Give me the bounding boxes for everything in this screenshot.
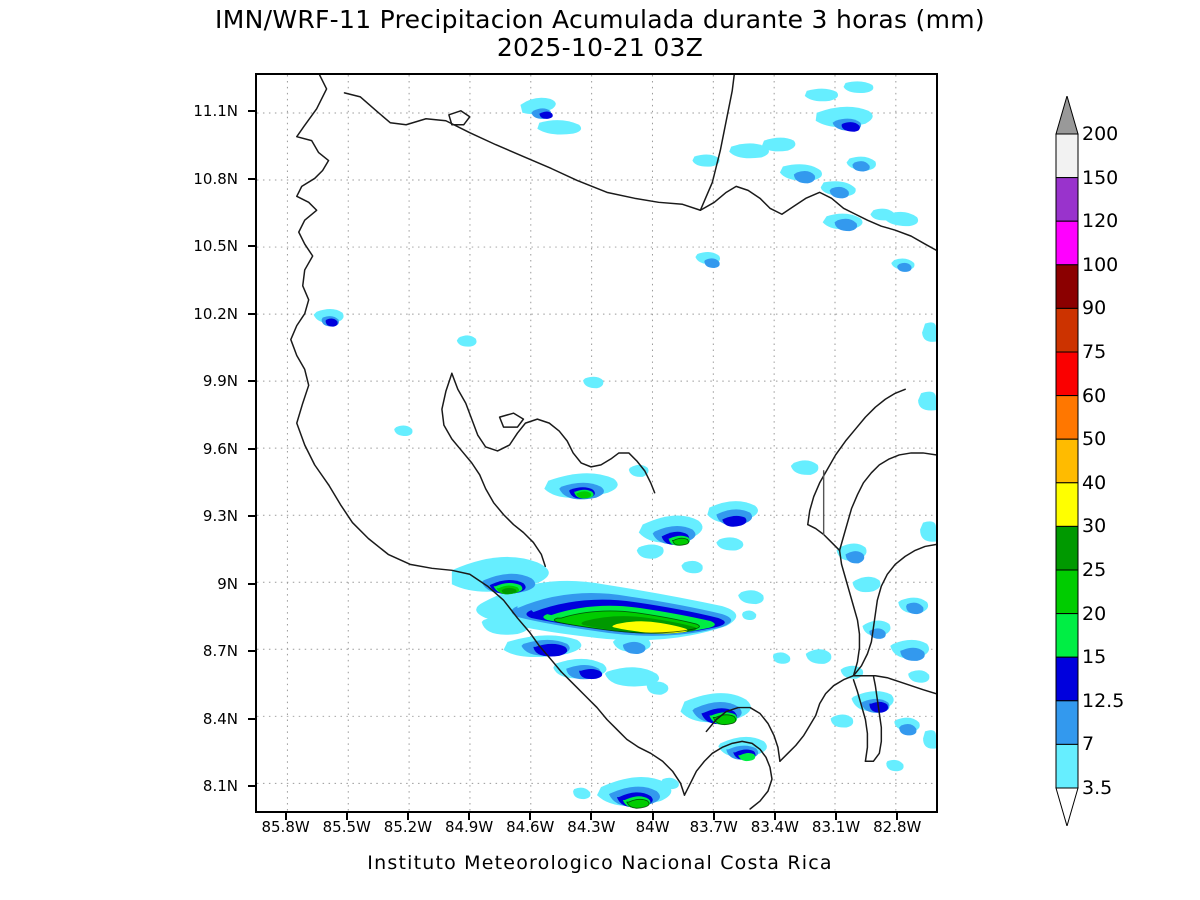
colorbar-swatch-120-150 <box>1056 178 1078 222</box>
y-axis-tick-label: 11.1N <box>193 102 238 120</box>
y-axis-tick-label: 8.1N <box>203 777 238 795</box>
y-axis-tick-label: 10.8N <box>193 170 238 188</box>
colorbar-swatch-60-75 <box>1056 352 1078 396</box>
colorbar-swatch-7-12.5 <box>1056 701 1078 745</box>
page-title: IMN/WRF-11 Precipitacion Acumulada duran… <box>0 6 1200 34</box>
colorbar-tick-60: 60 <box>1082 385 1106 407</box>
colorbar-swatch-20-25 <box>1056 570 1078 614</box>
colorbar-tick-25: 25 <box>1082 559 1106 581</box>
colorbar-swatch-25-30 <box>1056 526 1078 570</box>
y-axis-tick-mark <box>248 110 256 112</box>
x-axis-tick-mark <box>407 813 409 820</box>
y-axis-tick-mark <box>248 178 256 180</box>
colorbar-tick-3.5: 3.5 <box>1082 777 1112 799</box>
y-axis-tick-mark <box>248 448 256 450</box>
colorbar-tick-200: 200 <box>1082 123 1118 145</box>
y-axis-tick-label: 9N <box>217 575 238 593</box>
y-axis-tick-mark <box>248 380 256 382</box>
y-axis-tick-mark <box>248 785 256 787</box>
y-axis-tick-label: 9.3N <box>203 507 238 525</box>
colorbar-swatch-15-20 <box>1056 614 1078 658</box>
x-axis-tick-mark <box>346 813 348 820</box>
colorbar-swatch-90-100 <box>1056 265 1078 309</box>
footer-credit: Instituto Meteorologico Nacional Costa R… <box>0 852 1200 874</box>
page-subtitle: 2025-10-21 03Z <box>0 34 1200 62</box>
colorbar-tick-150: 150 <box>1082 167 1118 189</box>
colorbar-swatch-100-120 <box>1056 221 1078 265</box>
x-axis-ticks <box>255 813 938 822</box>
x-axis-tick-mark <box>774 813 776 820</box>
x-axis-tick-mark <box>285 813 287 820</box>
y-axis-tick-label: 10.2N <box>193 305 238 323</box>
y-axis-tick-mark <box>248 313 256 315</box>
colorbar-tick-90: 90 <box>1082 297 1106 319</box>
y-axis-tick-mark <box>248 650 256 652</box>
x-axis-tick-mark <box>468 813 470 820</box>
y-axis-tick-label: 8.4N <box>203 710 238 728</box>
y-axis-tick-label: 9.6N <box>203 440 238 458</box>
x-axis-tick-mark <box>835 813 837 820</box>
colorbar-tick-100: 100 <box>1082 254 1118 276</box>
colorbar-tick-40: 40 <box>1082 472 1106 494</box>
x-axis-tick-mark <box>652 813 654 820</box>
colorbar-swatch-3.5-7 <box>1056 744 1078 788</box>
colorbar-tick-120: 120 <box>1082 210 1118 232</box>
y-axis-tick-mark <box>248 515 256 517</box>
colorbar-swatch-40-50 <box>1056 439 1078 483</box>
chart-title-block: IMN/WRF-11 Precipitacion Acumulada duran… <box>0 6 1200 62</box>
colorbar-tick-15: 15 <box>1082 646 1106 668</box>
colorbar-over-max-arrow <box>1056 96 1078 134</box>
y-axis-tick-label: 10.5N <box>193 237 238 255</box>
colorbar-swatch-75-90 <box>1056 308 1078 352</box>
map-plot-area <box>255 73 938 813</box>
colorbar-tick-75: 75 <box>1082 341 1106 363</box>
colorbar-swatch-12.5-15 <box>1056 657 1078 701</box>
y-axis-tick-label: 8.7N <box>203 642 238 660</box>
y-axis-tick-mark <box>248 718 256 720</box>
precipitation-map-canvas <box>257 75 936 811</box>
colorbar-swatch-150-200 <box>1056 134 1078 178</box>
x-axis-tick-mark <box>713 813 715 820</box>
x-axis-tick-mark <box>896 813 898 820</box>
colorbar-tick-20: 20 <box>1082 603 1106 625</box>
colorbar-tick-30: 30 <box>1082 515 1106 537</box>
y-axis-ticks <box>246 73 256 813</box>
x-axis-tick-mark <box>529 813 531 820</box>
precip-band-12_5-15 <box>326 112 889 808</box>
colorbar-tick-50: 50 <box>1082 428 1106 450</box>
x-axis-tick-mark <box>590 813 592 820</box>
y-axis-labels: 11.1N10.8N10.5N10.2N9.9N9.6N9.3N9N8.7N8.… <box>0 73 248 813</box>
colorbar-tick-labels: 20015012010090756050403025201512.573.5 <box>1082 96 1192 826</box>
colorbar: 20015012010090756050403025201512.573.5 <box>1048 96 1198 826</box>
y-axis-tick-mark <box>248 583 256 585</box>
colorbar-under-min-arrow <box>1056 788 1078 826</box>
colorbar-swatch-50-60 <box>1056 396 1078 440</box>
colorbar-tick-7: 7 <box>1082 733 1094 755</box>
y-axis-tick-label: 9.9N <box>203 372 238 390</box>
colorbar-tick-12.5: 12.5 <box>1082 690 1124 712</box>
colorbar-swatch-30-40 <box>1056 483 1078 527</box>
y-axis-tick-mark <box>248 245 256 247</box>
